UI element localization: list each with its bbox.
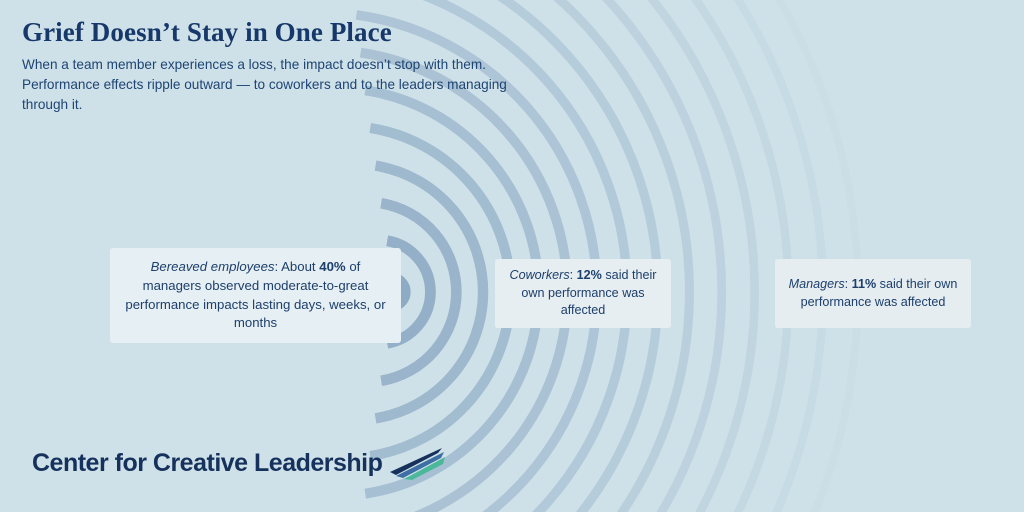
callout-managers-value: 11%	[852, 277, 877, 291]
callout-managers-text: Managers: 11% said their own performance…	[775, 276, 971, 312]
ccl-logo: Center for Creative Leadership	[32, 446, 446, 480]
callout-coworkers-separator: :	[570, 268, 577, 282]
callout-bereaved-text: Bereaved employees: About 40% of manager…	[110, 258, 401, 333]
callout-coworkers-value: 12%	[577, 268, 602, 282]
header-block: Grief Doesn’t Stay in One Place When a t…	[22, 18, 522, 115]
callout-coworkers-label: Coworkers	[509, 268, 569, 282]
infographic-canvas: Grief Doesn’t Stay in One Place When a t…	[0, 0, 1024, 512]
page-subtitle: When a team member experiences a loss, t…	[22, 55, 522, 115]
ccl-swoosh-icon	[388, 446, 446, 480]
callout-bereaved-label: Bereaved employees	[151, 259, 275, 274]
callout-managers-label: Managers	[789, 277, 845, 291]
page-title: Grief Doesn’t Stay in One Place	[22, 18, 522, 48]
callout-managers: Managers: 11% said their own performance…	[775, 259, 971, 328]
callout-bereaved-value: 40%	[319, 259, 345, 274]
ccl-logo-wordmark: Center for Creative Leadership	[32, 449, 382, 478]
callout-bereaved-separator: : About	[275, 259, 320, 274]
callout-coworkers: Coworkers: 12% said their own performanc…	[495, 259, 671, 328]
callout-bereaved-employees: Bereaved employees: About 40% of manager…	[110, 248, 401, 343]
callout-coworkers-text: Coworkers: 12% said their own performanc…	[495, 267, 671, 321]
callout-managers-separator: :	[845, 277, 852, 291]
